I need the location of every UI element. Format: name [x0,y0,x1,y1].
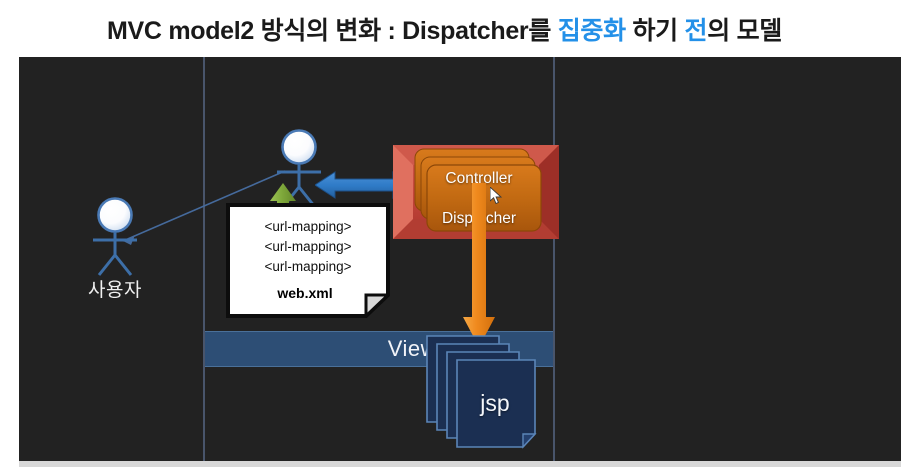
page-title-text: MVC model2 방식의 변화 : Dispatcher를 집중화 하기 전… [107,11,782,47]
actor-user: 사용자 [60,195,170,286]
jsp-stack-icon [425,334,543,450]
page-title: MVC model2 방식의 변화 : Dispatcher를 집중화 하기 전… [0,0,901,57]
title-highlight-2: 전 [685,17,708,45]
diagram-canvas: View 사용자 [19,57,901,461]
webxml-filename: web.xml [226,285,384,301]
jsp-document-stack[interactable]: jsp [425,334,543,450]
canvas-bottom-strip [19,461,901,467]
webxml-lines: <url-mapping> <url-mapping> <url-mapping… [226,217,390,277]
actor-user-label: 사용자 [60,275,170,302]
down-arrow-icon [462,183,496,349]
title-middle: 하기 [626,17,685,45]
stick-figure-icon [60,195,170,281]
webxml-line: <url-mapping> [226,257,390,277]
webxml-document[interactable]: <url-mapping> <url-mapping> <url-mapping… [226,203,390,318]
column-divider-right [553,57,555,461]
title-highlight-1: 집중화 [558,17,626,45]
webxml-line: <url-mapping> [226,237,390,257]
title-suffix: 의 모델 [707,17,782,45]
column-divider-left [203,57,205,461]
webxml-line: <url-mapping> [226,217,390,237]
title-prefix: MVC model2 방식의 변화 : Dispatcher를 [107,17,558,45]
